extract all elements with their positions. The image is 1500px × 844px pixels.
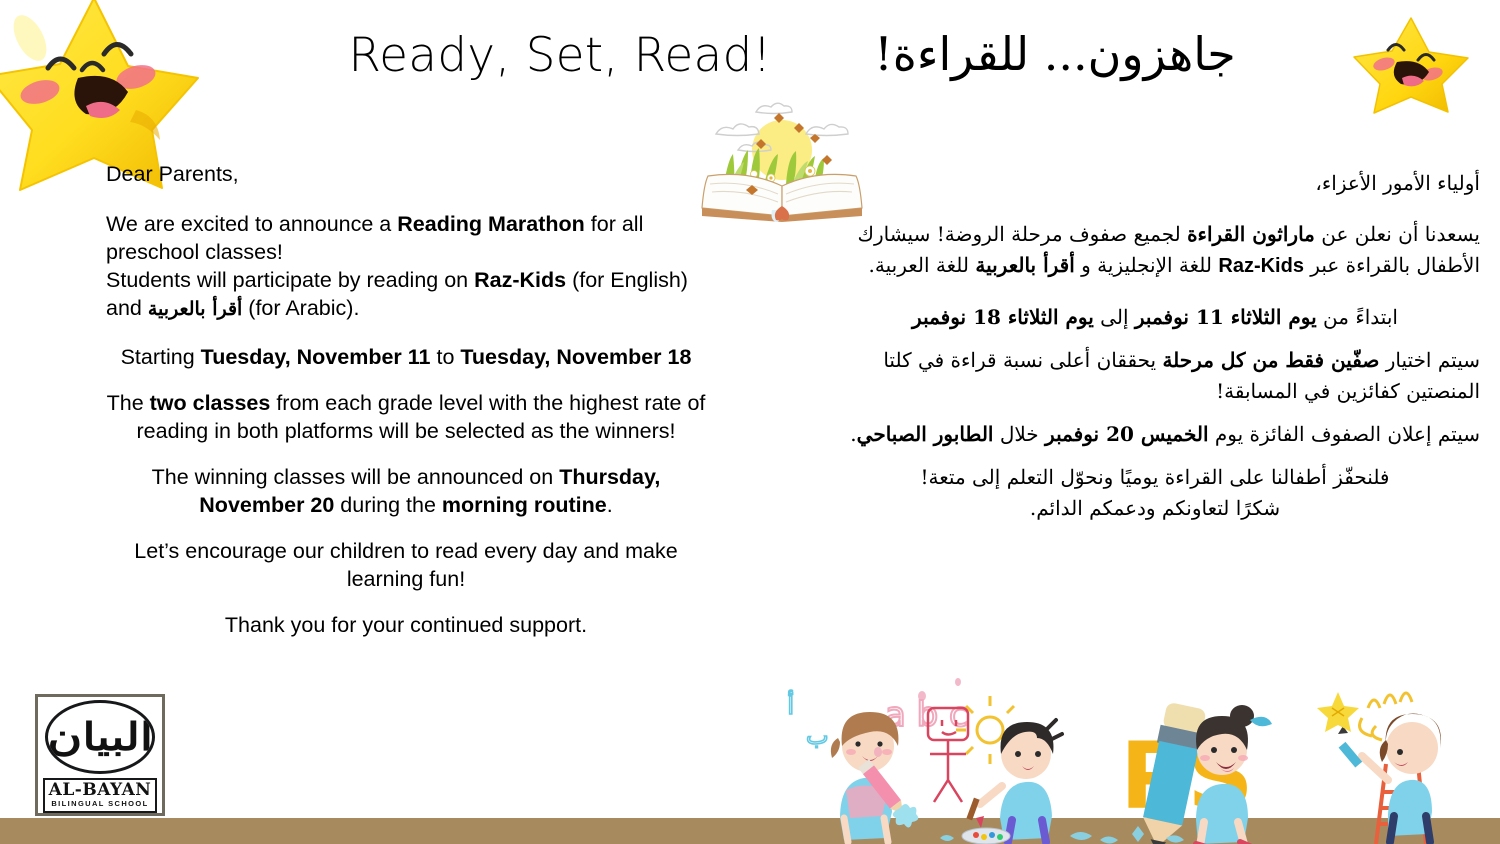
logo-arabic-mark: البيان <box>45 700 155 774</box>
logo-nameplate: AL-BAYAN BILINGUAL SCHOOL <box>43 778 157 813</box>
english-paragraph-2: Students will participate by reading on … <box>106 266 706 323</box>
logo-school-name: AL-BAYAN <box>45 781 155 799</box>
english-salutation: Dear Parents, <box>106 160 706 188</box>
arabic-paragraph-1: يسعدنا أن نعلن عن ماراثون القراءة لجميع … <box>830 219 1480 282</box>
english-paragraph-1: We are excited to announce a Reading Mar… <box>106 210 706 266</box>
english-inline-arabic: أقرأ بالعربية <box>148 298 242 320</box>
logo-mark-text: البيان <box>47 718 153 756</box>
smiling-star-small-icon <box>1352 14 1470 114</box>
svg-text:أ ت: أ ت <box>780 690 794 720</box>
arabic-thanks: شكرًا لتعاونكم ودعمكم الدائم. <box>830 493 1480 524</box>
poster-title-english: Ready, Set, Read! <box>300 28 820 84</box>
arabic-announcement: سيتم إعلان الصفوف الفائزة يوم الخميس 20 … <box>830 419 1480 450</box>
english-winners: The two classes from each grade level wi… <box>106 389 706 445</box>
poster-title-arabic: جاهزون... للقراءة! <box>840 24 1270 84</box>
poster-canvas: Ready, Set, Read! جاهزون... للقراءة! <box>0 0 1500 844</box>
english-encouragement: Let’s encourage our children to read eve… <box>106 537 706 593</box>
english-letter-body: Dear Parents, We are excited to announce… <box>106 160 706 639</box>
school-logo: البيان AL-BAYAN BILINGUAL SCHOOL <box>35 694 165 816</box>
arabic-encouragement: فلنحفّز أطفالنا على القراءة يوميًا ونحوّ… <box>830 462 1480 493</box>
logo-school-subtitle: BILINGUAL SCHOOL <box>45 799 155 809</box>
english-announcement: The winning classes will be announced on… <box>106 463 706 519</box>
arabic-salutation: أولياء الأمور الأعزاء، <box>830 168 1480 199</box>
children-illustration: PS a b c أ ت ب <box>780 668 1500 844</box>
arabic-letter-body: أولياء الأمور الأعزاء، يسعدنا أن نعلن عن… <box>830 168 1480 524</box>
svg-text:ب: ب <box>806 722 829 750</box>
svg-text:a b c: a b c <box>885 695 968 735</box>
english-dates: Starting Tuesday, November 11 to Tuesday… <box>106 343 706 371</box>
arabic-inline-razkids: Raz-Kids <box>1218 255 1304 277</box>
arabic-dates: ابتداءً من يوم الثلاثاء 11 نوفمبر إلى يو… <box>830 302 1480 333</box>
english-thanks: Thank you for your continued support. <box>106 611 706 639</box>
arabic-winners: سيتم اختيار صفّين فقط من كل مرحلة يحققان… <box>830 345 1480 407</box>
